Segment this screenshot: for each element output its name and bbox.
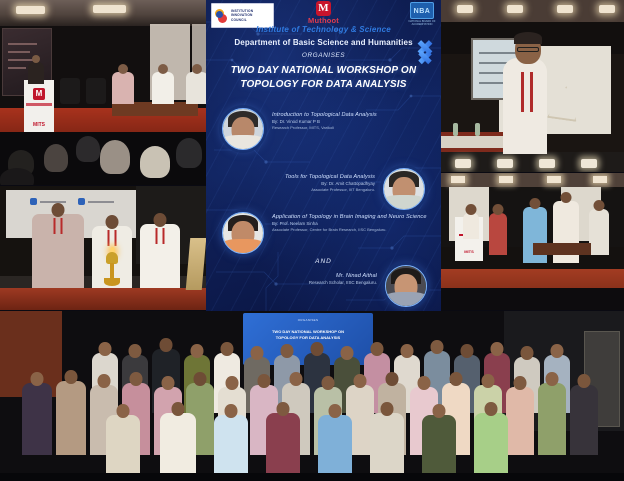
event-photo-collage: M MITS Inaugural session on stage with [0,0,624,481]
person-lighting-lamp [32,214,84,288]
stage-table [533,243,591,255]
award-photo: MITS Memento presentation on stage [441,173,624,310]
seated-dignitary [160,413,196,475]
ceiling-strip [441,173,624,187]
session-topic-2: Tools for Topological Data Analysis [226,174,375,181]
audience-area [0,132,206,185]
presenter-hair [514,32,542,44]
seated-dignitary [318,415,352,475]
session-topic-1: Introduction to Topological Data Analysi… [272,112,435,119]
seated-dignitary [186,72,206,104]
speaker-avatar-2 [383,168,425,210]
nba-logo-subtitle: NATIONAL BOARD OF ACCREDITATION [407,20,437,26]
institute-logo-mark: M [316,1,331,16]
audience-head [44,144,68,172]
water-bottle [453,123,458,136]
session-speaker-4: Research Scholar, IISC Bengaluru. [226,280,377,286]
poster-and-separator: AND [206,258,441,265]
nba-logo: NBA NATIONAL BOARD OF ACCREDITATION [407,2,437,32]
session-affiliation-2: Associate Professor, IIIT Bengaluru. [226,187,375,193]
audience-head [0,168,34,185]
podium: M MITS [24,80,54,135]
poster-organises: ORGANISES [206,52,441,59]
audience-head [140,146,170,178]
stage-panel-photo: M MITS Inaugural session on stage with [0,0,206,185]
session-text-4: Mr. Ninad Aithal Research Scholar, IISC … [226,273,377,286]
lamp-lighting-photo: Traditional lamp lighting ceremony [0,186,206,310]
speaker-avatar-3 [222,212,264,254]
podium-logo-mark: M [33,88,45,100]
podium-name-band [26,103,52,106]
seated-dignitary [474,413,508,475]
held-object [549,86,579,120]
person-at-podium [463,213,479,239]
seated-dignitary [370,413,404,475]
stage-chair [86,78,106,104]
floor-shadow [0,473,624,481]
person-standing [489,213,507,255]
slide-title-line1: TWO DAY NATIONAL WORKSHOP ON [272,329,344,334]
participant [22,383,52,455]
iic-swirl-icon [215,7,229,25]
slide-title-line2: TOPOLOGY FOR DATA ANALYSIS [276,335,340,340]
poster-title: TWO DAY NATIONAL WORKSHOP ON TOPOLOGY FO… [206,64,441,92]
audience-head [100,140,130,174]
podium-abbr: MITS [464,249,474,254]
participant [56,381,86,455]
poster-department: Department of Basic Science and Humaniti… [206,38,441,47]
speaker-avatar-1 [222,108,264,150]
stage-front-edge [441,152,624,172]
person-standing [140,224,180,288]
workshop-poster: INSTITUTION INNOVATION COUNCIL M Muthoot… [206,0,441,311]
ceiling-strip [441,0,624,22]
session-text-3: Application of Topology in Brain Imaging… [272,214,435,233]
seated-dignitary [112,72,134,104]
presenter-lanyard [521,72,533,112]
seated-dignitary [152,72,174,104]
group-photo: ORGANISES TWO DAY NATIONAL WORKSHOP ON T… [0,311,624,481]
water-bottle [475,123,480,136]
stage-table [112,102,198,116]
participant [506,387,534,455]
institute-name-line2: Institute of Technology & Science [239,25,409,34]
eyeglasses-icon [517,47,539,52]
seated-dignitary [106,415,140,475]
ceremonial-lamp [104,252,120,286]
audience-head [76,136,100,162]
nba-logo-abbr: NBA [410,2,434,19]
session-text-1: Introduction to Topological Data Analysi… [272,112,435,131]
slide-organises: ORGANISES [298,318,319,322]
speaker-avatar-4 [385,265,427,307]
person-standing [589,209,609,255]
red-carpet-floor [0,288,206,310]
participant [538,383,566,455]
participant [570,385,598,455]
stage-chair [60,78,80,104]
session-text-2: Tools for Topological Data Analysis By: … [226,174,375,193]
session-topic-4: Mr. Ninad Aithal [226,273,377,280]
institute-name-line1: Muthoot [239,16,409,25]
foreground-seats [441,288,624,310]
session-affiliation-3: Associate Professor, Centre for Brain Re… [272,227,435,233]
speaker-photo: Resource person addressing the audience [441,0,624,172]
seated-dignitary [214,415,248,475]
slide-title: TWO DAY NATIONAL WORKSHOP ON TOPOLOGY FO… [253,329,363,341]
audience-head [176,138,202,168]
institute-logo: M Muthoot Institute of Technology & Scie… [239,1,409,34]
session-topic-3: Application of Topology in Brain Imaging… [272,214,435,221]
speaker-at-podium [28,62,44,84]
poster-logo-row: INSTITUTION INNOVATION COUNCIL M Muthoot… [206,0,441,34]
poster-title-line2: TOPOLOGY FOR DATA ANALYSIS [240,79,406,90]
seated-dignitary [266,413,300,475]
session-affiliation-1: Research Professor, MITS, Varikoli [272,125,435,131]
podium-abbr: MITS [33,122,45,128]
ceiling-lights [0,0,206,26]
seated-dignitary [422,415,456,475]
poster-title-line1: TWO DAY NATIONAL WORKSHOP ON [231,65,417,76]
